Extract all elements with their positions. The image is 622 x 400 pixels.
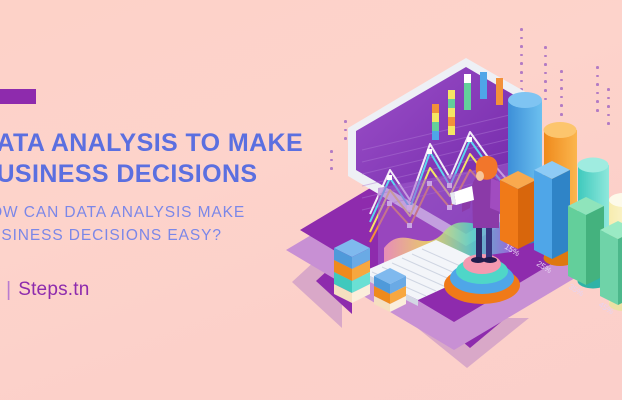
subheadline-line-2: BUSINESS DECISIONS EASY? bbox=[0, 225, 308, 246]
brand-name: Steps.tn bbox=[18, 279, 89, 301]
headline-block: DATA ANALYSIS TO MAKE BUSINESS DECISIONS… bbox=[0, 128, 308, 246]
isometric-analytics-illustration: 15% 25% 35% 45% bbox=[286, 0, 622, 400]
headline-line-2: BUSINESS DECISIONS bbox=[0, 159, 308, 190]
stacked-boxes-tall bbox=[334, 239, 370, 303]
stacked-boxes-short bbox=[374, 268, 406, 312]
bar-mint bbox=[600, 221, 622, 305]
subheadline-line-1: HOW CAN DATA ANALYSIS MAKE bbox=[0, 202, 308, 223]
accent-bar bbox=[0, 89, 36, 104]
illustration: 15% 25% 35% 45% bbox=[286, 0, 622, 400]
brand-separator: | bbox=[6, 280, 11, 300]
bar-blue bbox=[534, 161, 570, 259]
promo-banner: DATA ANALYSIS TO MAKE BUSINESS DECISIONS… bbox=[0, 0, 622, 400]
bar-green bbox=[568, 197, 604, 285]
bar-orange bbox=[500, 171, 536, 249]
headline-line-1: DATA ANALYSIS TO MAKE bbox=[0, 128, 308, 159]
brand-logo[interactable]: | Steps.tn bbox=[0, 279, 90, 301]
